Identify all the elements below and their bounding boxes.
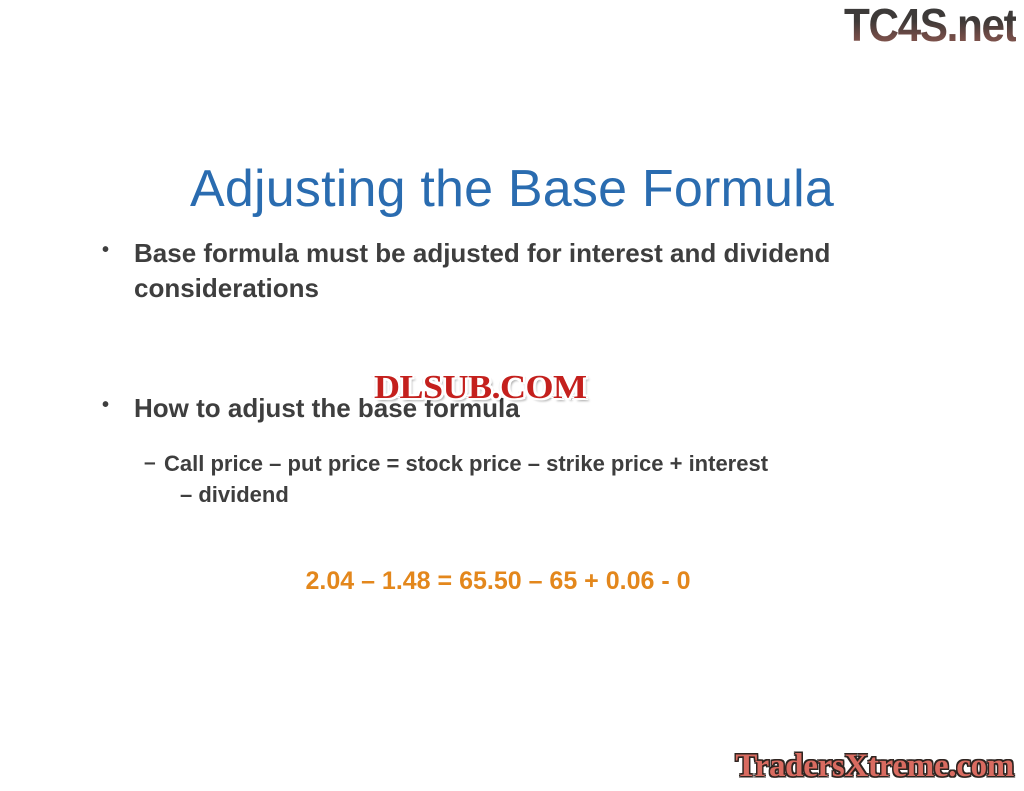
sub-bullet-item-1-label: Call price – put price = stock price – s… — [164, 448, 924, 510]
bullet-dash-icon: – — [144, 448, 164, 478]
sub-bullet-line-2: – dividend — [164, 479, 924, 510]
dlsub-overlay-watermark: DLSUB.COM — [374, 371, 586, 405]
slide-canvas: TC4S.net Adjusting the Base Formula • Ba… — [0, 0, 1024, 791]
page-title: Adjusting the Base Formula — [0, 161, 1024, 218]
bullet-item-1: • Base formula must be adjusted for inte… — [96, 236, 956, 307]
bullet-dot-icon: • — [96, 391, 134, 420]
tradersxtreme-brand-watermark: TradersXtreme.com — [735, 750, 1014, 783]
body-spacer — [96, 511, 956, 567]
bullet-item-1-label: Base formula must be adjusted for intere… — [134, 236, 854, 307]
bullet-dot-icon: • — [96, 236, 134, 265]
tc4s-site-watermark: TC4S.net — [844, 2, 1016, 48]
sub-bullet-item-1: – Call price – put price = stock price –… — [96, 448, 956, 510]
formula-example: 2.04 – 1.48 = 65.50 – 65 + 0.06 - 0 — [168, 567, 828, 596]
body-spacer — [96, 426, 956, 448]
slide-body: • Base formula must be adjusted for inte… — [96, 236, 956, 596]
sub-bullet-line-1: Call price – put price = stock price – s… — [164, 451, 768, 476]
